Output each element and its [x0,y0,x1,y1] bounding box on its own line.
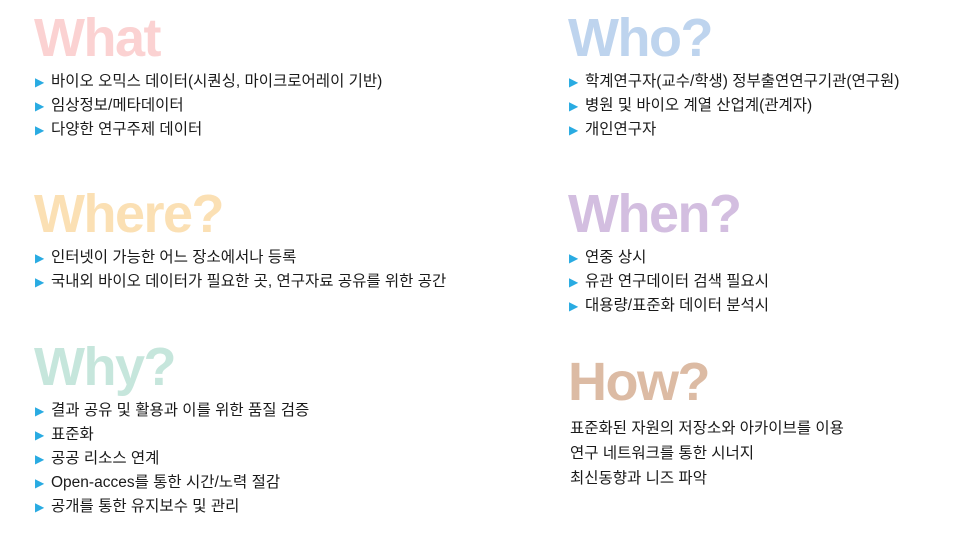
list-item: ▶ 결과 공유 및 활용과 이를 위한 품질 검증 [35,399,309,423]
list-item-label: 연중 상시 [585,246,646,270]
list-item-label: 공공 리소스 연계 [51,447,159,471]
list-item: 최신동향과 니즈 파악 [570,466,844,491]
triangle-bullet-icon: ▶ [569,94,585,118]
triangle-bullet-icon: ▶ [35,246,51,270]
list-item: ▶ 개인연구자 [569,118,899,142]
list-item: ▶ 다양한 연구주제 데이터 [35,118,382,142]
triangle-bullet-icon: ▶ [35,399,51,423]
list-item-label: 유관 연구데이터 검색 필요시 [585,270,769,294]
text-list-how: 표준화된 자원의 저장소와 아카이브를 이용 연구 네트워크를 통한 시너지 최… [570,416,844,491]
list-item: ▶ Open-acces를 통한 시간/노력 절감 [35,471,309,495]
list-item: ▶ 임상정보/메타데이터 [35,94,382,118]
section-where: Where? ▶ 인터넷이 가능한 어느 장소에서나 등록 ▶ 국내외 바이오 … [34,190,446,294]
bullet-list-why: ▶ 결과 공유 및 활용과 이를 위한 품질 검증 ▶ 표준화 ▶ 공공 리소스… [35,399,309,519]
list-item: ▶ 공공 리소스 연계 [35,447,309,471]
list-item-label: 결과 공유 및 활용과 이를 위한 품질 검증 [51,399,309,423]
list-item: ▶ 바이오 오믹스 데이터(시퀀싱, 마이크로어레이 기반) [35,70,382,94]
section-when: When? ▶ 연중 상시 ▶ 유관 연구데이터 검색 필요시 ▶ 대용량/표준… [568,190,769,318]
list-item: ▶ 인터넷이 가능한 어느 장소에서나 등록 [35,246,446,270]
triangle-bullet-icon: ▶ [35,471,51,495]
triangle-bullet-icon: ▶ [569,246,585,270]
heading-why: Why? [34,343,309,393]
list-item-label: 임상정보/메타데이터 [51,94,184,118]
heading-who: Who? [568,14,899,64]
list-item: ▶ 표준화 [35,423,309,447]
list-item: 연구 네트워크를 통한 시너지 [570,441,844,466]
list-item-label: 대용량/표준화 데이터 분석시 [585,294,769,318]
list-item: ▶ 유관 연구데이터 검색 필요시 [569,270,769,294]
section-why: Why? ▶ 결과 공유 및 활용과 이를 위한 품질 검증 ▶ 표준화 ▶ 공… [34,343,309,519]
triangle-bullet-icon: ▶ [35,423,51,447]
section-what: What ▶ 바이오 오믹스 데이터(시퀀싱, 마이크로어레이 기반) ▶ 임상… [34,14,382,142]
triangle-bullet-icon: ▶ [35,447,51,471]
heading-where: Where? [34,190,446,240]
triangle-bullet-icon: ▶ [35,94,51,118]
triangle-bullet-icon: ▶ [35,118,51,142]
list-item: ▶ 학계연구자(교수/학생) 정부출연연구기관(연구원) [569,70,899,94]
triangle-bullet-icon: ▶ [35,70,51,94]
list-item: ▶ 연중 상시 [569,246,769,270]
list-item-label: 표준화 [51,423,94,447]
triangle-bullet-icon: ▶ [569,70,585,94]
list-item: ▶ 대용량/표준화 데이터 분석시 [569,294,769,318]
list-item: ▶ 국내외 바이오 데이터가 필요한 곳, 연구자료 공유를 위한 공간 [35,270,446,294]
triangle-bullet-icon: ▶ [35,270,51,294]
list-item: ▶ 공개를 통한 유지보수 및 관리 [35,495,309,519]
list-item-label: 국내외 바이오 데이터가 필요한 곳, 연구자료 공유를 위한 공간 [51,270,446,294]
bullet-list-where: ▶ 인터넷이 가능한 어느 장소에서나 등록 ▶ 국내외 바이오 데이터가 필요… [35,246,446,294]
list-item-label: 다양한 연구주제 데이터 [51,118,202,142]
section-who: Who? ▶ 학계연구자(교수/학생) 정부출연연구기관(연구원) ▶ 병원 및… [568,14,899,142]
list-item-label: 학계연구자(교수/학생) 정부출연연구기관(연구원) [585,70,899,94]
slide-canvas: What ▶ 바이오 오믹스 데이터(시퀀싱, 마이크로어레이 기반) ▶ 임상… [0,0,976,547]
triangle-bullet-icon: ▶ [569,118,585,142]
bullet-list-when: ▶ 연중 상시 ▶ 유관 연구데이터 검색 필요시 ▶ 대용량/표준화 데이터 … [569,246,769,318]
heading-what: What [34,14,382,64]
list-item-label: 개인연구자 [585,118,656,142]
list-item: 표준화된 자원의 저장소와 아카이브를 이용 [570,416,844,441]
triangle-bullet-icon: ▶ [569,270,585,294]
list-item: ▶ 병원 및 바이오 계열 산업계(관계자) [569,94,899,118]
bullet-list-what: ▶ 바이오 오믹스 데이터(시퀀싱, 마이크로어레이 기반) ▶ 임상정보/메타… [35,70,382,142]
heading-when: When? [568,190,769,240]
list-item-label: 인터넷이 가능한 어느 장소에서나 등록 [51,246,296,270]
triangle-bullet-icon: ▶ [35,495,51,519]
bullet-list-who: ▶ 학계연구자(교수/학생) 정부출연연구기관(연구원) ▶ 병원 및 바이오 … [569,70,899,142]
section-how: How? 표준화된 자원의 저장소와 아카이브를 이용 연구 네트워크를 통한 … [568,358,844,491]
heading-how: How? [568,358,844,408]
list-item-label: 병원 및 바이오 계열 산업계(관계자) [585,94,812,118]
list-item-label: 바이오 오믹스 데이터(시퀀싱, 마이크로어레이 기반) [51,70,382,94]
list-item-label: Open-acces를 통한 시간/노력 절감 [51,471,280,495]
triangle-bullet-icon: ▶ [569,294,585,318]
list-item-label: 공개를 통한 유지보수 및 관리 [51,495,239,519]
